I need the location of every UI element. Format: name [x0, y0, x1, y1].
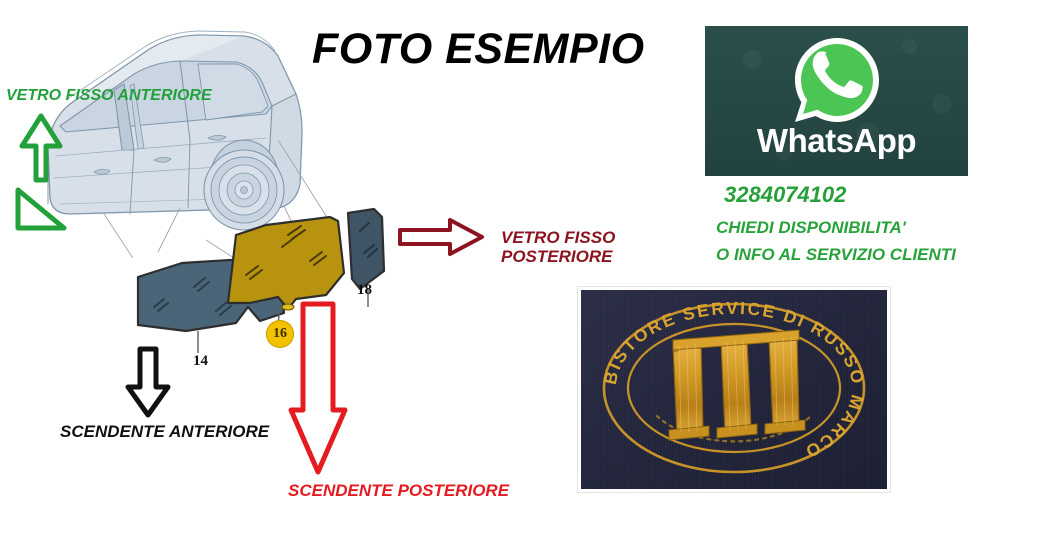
phone-number: 3284074102 [724, 182, 846, 208]
brand-monogram [669, 330, 805, 440]
down-arrow-icon-black [123, 343, 173, 421]
down-arrow-icon-red [287, 300, 349, 478]
label-vetro-fisso-anteriore: VETRO FISSO ANTERIORE [6, 87, 212, 105]
brand-logo-canvas: MRICAMBISTORE SERVICE DI RUSSO MARCO [581, 290, 887, 489]
right-arrow-icon-maroon [396, 215, 486, 259]
contact-line-2: O INFO AL SERVIZIO CLIENTI [716, 245, 956, 265]
brand-logo-graphic: MRICAMBISTORE SERVICE DI RUSSO MARCO [581, 290, 887, 489]
whatsapp-banner: WhatsApp [705, 26, 968, 176]
up-arrow-icon-green [10, 106, 72, 234]
brand-logo-photo: MRICAMBISTORE SERVICE DI RUSSO MARCO [578, 287, 890, 492]
whatsapp-phone-icon [789, 32, 885, 128]
label-vetro-fisso-posteriore: VETRO FISSO POSTERIORE [501, 228, 615, 266]
label-vetro-fisso-posteriore-line1: VETRO FISSO [501, 228, 615, 247]
label-scendente-anteriore: SCENDENTE ANTERIORE [60, 422, 269, 441]
contact-line-1: CHIEDI DISPONIBILITA' [716, 218, 906, 238]
label-vetro-fisso-posteriore-line2: POSTERIORE [501, 247, 615, 266]
screenshot-root: FOTO ESEMPIO [0, 0, 1042, 559]
callout-number-18: 18 [357, 282, 372, 299]
callout-number-14: 14 [193, 353, 208, 370]
whatsapp-wordmark: WhatsApp [705, 122, 968, 160]
right-triangle-marker-icon-green [18, 190, 64, 228]
label-scendente-posteriore: SCENDENTE POSTERIORE [288, 481, 509, 500]
